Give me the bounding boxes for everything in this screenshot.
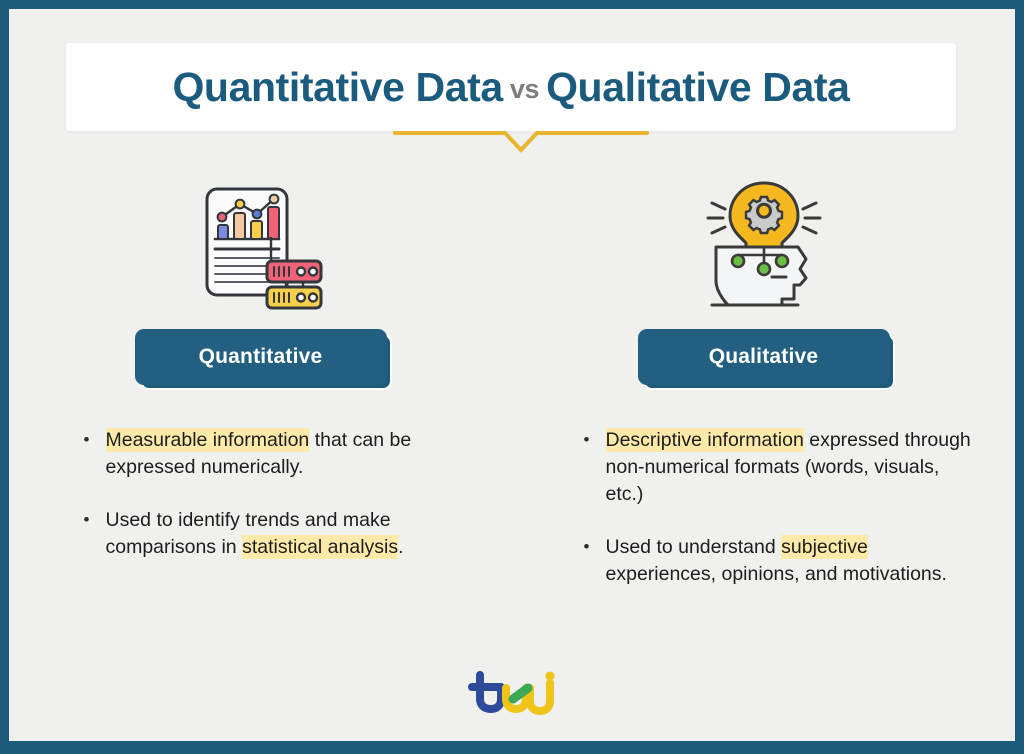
infographic-canvas: Quantitative DatavsQualitative Data [0,0,1024,754]
bullet-highlight: subjective [781,535,868,559]
bullet-text: Used to understand subjective experience… [606,534,978,588]
bullet-list-qualitative: • Descriptive information expressed thro… [578,427,978,614]
bullet-marker: • [84,427,106,481]
twj-brand-logo [9,671,1015,715]
badge-face: Qualitative [638,329,890,385]
bullet-marker: • [584,534,606,588]
bullet-text: Descriptive information expressed throug… [606,427,978,508]
badge-label: Quantitative [199,345,323,369]
list-item: • Measurable information that can be exp… [84,427,478,481]
bullet-list-quantitative: • Measurable information that can be exp… [78,427,478,587]
bullet-highlight: Descriptive information [606,428,804,452]
badge-label: Qualitative [709,345,819,369]
bullet-highlight: statistical analysis [242,535,398,559]
badge-face: Quantitative [135,329,387,385]
column-quantitative: Quantitative • Measurable information th… [9,174,512,614]
comparison-columns: Quantitative • Measurable information th… [9,174,1015,614]
head-lightbulb-gear-idea-icon [694,174,834,319]
title-separator: vs [503,74,546,104]
badge-qualitative[interactable]: Qualitative [638,329,890,385]
title-right-part: Qualitative Data [546,64,849,110]
column-qualitative: Qualitative • Descriptive information ex… [512,174,1015,614]
bullet-marker: • [84,507,106,561]
bullet-plain: experiences, opinions, and motivations. [606,563,947,585]
bullet-marker: • [584,427,606,508]
title-divider-notch [393,128,649,154]
bullet-text: Measurable information that can be expre… [106,427,478,481]
list-item: • Used to understand subjective experien… [584,534,978,588]
page-title: Quantitative DatavsQualitative Data [172,64,849,111]
title-left-part: Quantitative Data [172,64,502,110]
badge-quantitative[interactable]: Quantitative [135,329,387,385]
title-card: Quantitative DatavsQualitative Data [66,43,956,131]
list-item: • Descriptive information expressed thro… [584,427,978,508]
list-item: • Used to identify trends and make compa… [84,507,478,561]
bullet-text: Used to identify trends and make compari… [106,507,478,561]
bullet-plain: . [398,536,403,558]
bullet-highlight: Measurable information [106,428,310,452]
report-bar-chart-database-icon [191,174,331,319]
bullet-plain: Used to understand [606,536,782,558]
